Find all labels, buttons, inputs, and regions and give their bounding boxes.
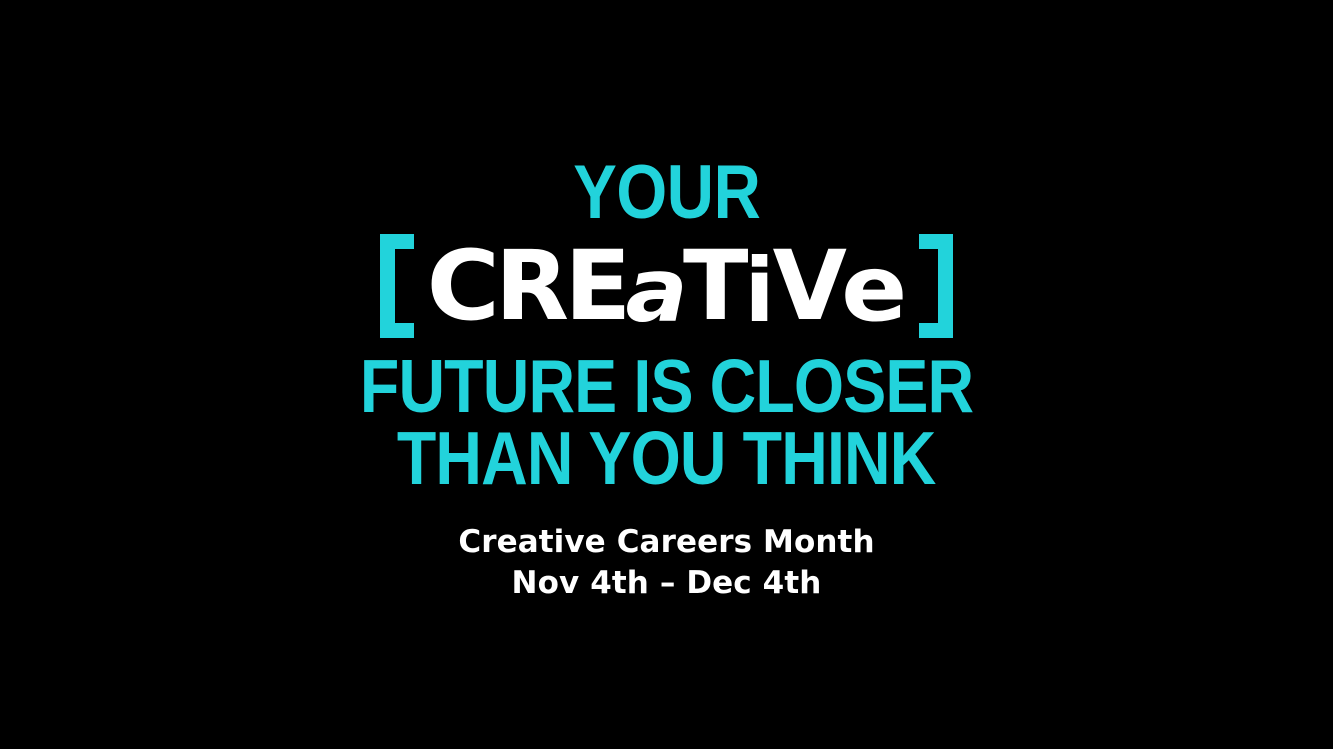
creative-glyph-a: a xyxy=(625,247,687,335)
creative-glyph-e2: e xyxy=(841,243,907,335)
promo-poster: YOUR C R E a T i V e FUTURE IS CLOSER xyxy=(0,0,1333,749)
headline-line-creative: C R E a T i V e xyxy=(380,232,954,340)
headline-word-creative: C R E a T i V e xyxy=(414,238,920,334)
bracket-open-icon xyxy=(380,234,414,338)
headline-line-than-you-think: THAN YOU THINK xyxy=(397,424,936,494)
subtitle-block: Creative Careers Month Nov 4th – Dec 4th xyxy=(458,522,874,605)
headline-stack: YOUR C R E a T i V e FUTURE IS CLOSER xyxy=(0,0,1333,749)
headline-line-future-is-closer: FUTURE IS CLOSER xyxy=(360,352,973,422)
subtitle-date-range: Nov 4th – Dec 4th xyxy=(458,563,874,605)
subtitle-event-name: Creative Careers Month xyxy=(458,522,874,564)
creative-glyph-v: V xyxy=(773,238,847,334)
headline-line-your: YOUR xyxy=(573,163,760,222)
creative-glyph-r: R xyxy=(495,238,569,334)
creative-glyph-e1: E xyxy=(564,238,631,334)
bracket-close-icon xyxy=(919,234,953,338)
creative-glyph-i: i xyxy=(744,247,774,335)
creative-glyph-c: C xyxy=(426,238,499,334)
creative-glyph-t: T xyxy=(683,238,748,334)
